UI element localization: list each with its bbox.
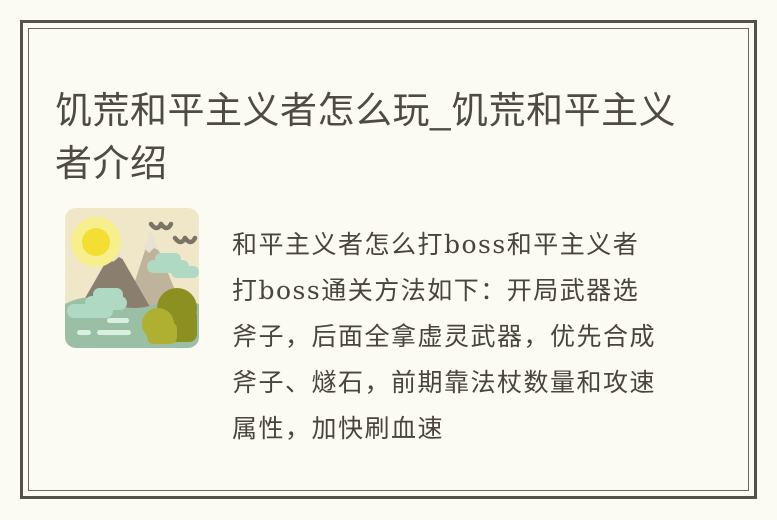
article-body-text: 和平主义者怎么打boss和平主义者打boss通关方法如下：开局武器选斧子，后面全…	[232, 222, 657, 452]
article-content: 饥荒和平主义者怎么玩_饥荒和平主义者介绍	[29, 29, 748, 490]
article-body: 和平主义者怎么打boss和平主义者打boss通关方法如下：开局武器选斧子，后面全…	[55, 197, 725, 447]
article-page: 饥荒和平主义者怎么玩_饥荒和平主义者介绍	[0, 0, 777, 520]
page-title: 饥荒和平主义者怎么玩_饥荒和平主义者介绍	[55, 84, 695, 190]
landscape-thumbnail-icon	[55, 204, 203, 357]
